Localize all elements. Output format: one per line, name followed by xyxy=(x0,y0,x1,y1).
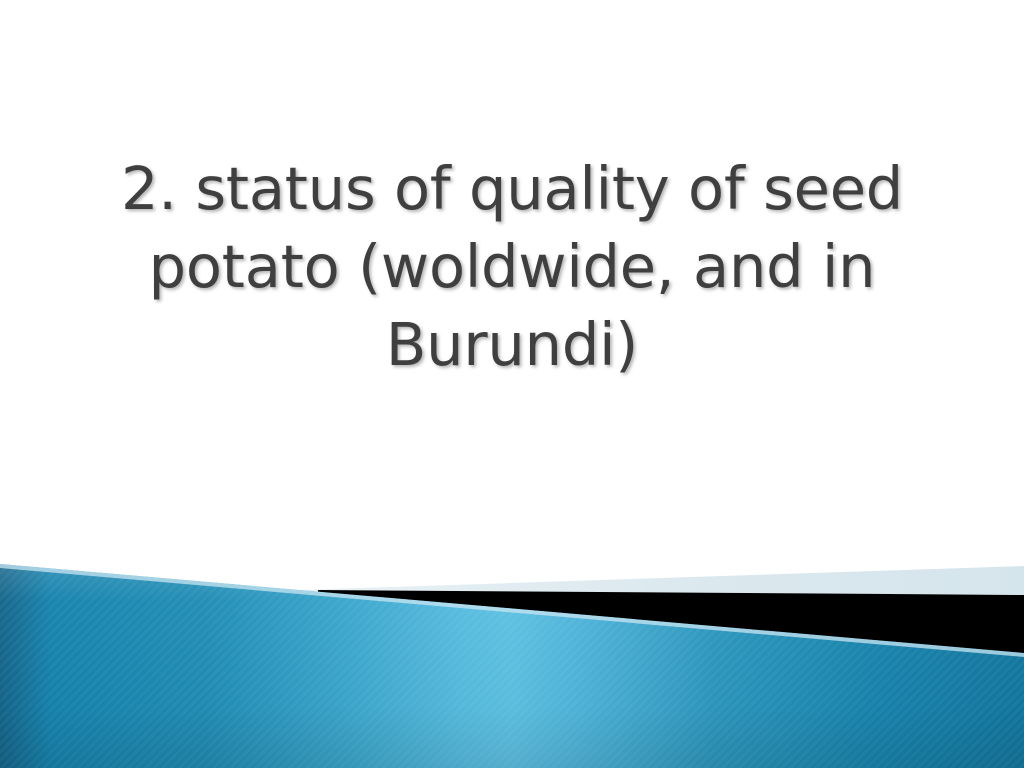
dark-band-shape xyxy=(318,590,1024,658)
page-title: 2. status of quality of seed potato (wol… xyxy=(62,150,962,384)
title-placeholder: 2. status of quality of seed potato (wol… xyxy=(62,150,962,384)
slide-canvas: 2. status of quality of seed potato (wol… xyxy=(0,0,1024,768)
accent-band-shape xyxy=(0,564,1024,768)
accent-edge-highlight xyxy=(0,564,1024,657)
pale-band-shape xyxy=(300,566,1024,596)
angled-banner-decoration xyxy=(0,538,1024,768)
